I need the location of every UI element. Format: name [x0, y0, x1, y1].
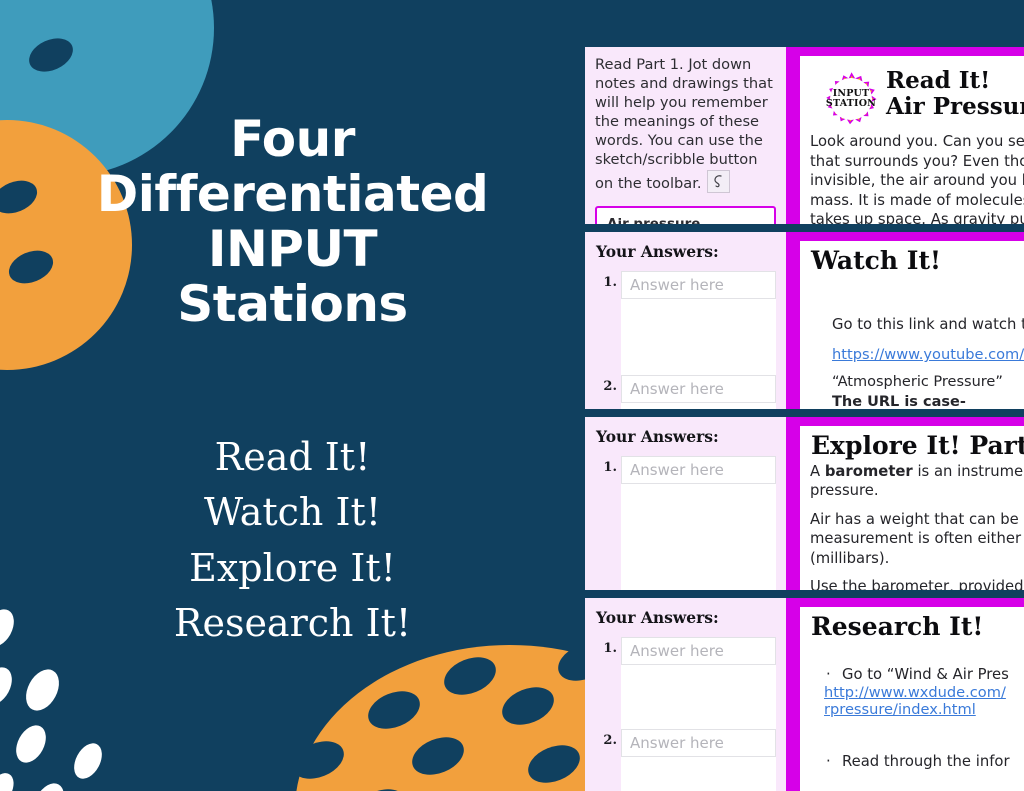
decor-dot [0, 662, 18, 710]
answer-placeholder: Answer here [630, 642, 724, 660]
card-top-bar-magenta [800, 598, 1024, 607]
station-list-item-read: Read It! [0, 430, 585, 485]
wxdude-link-line-1[interactable]: http://www.wxdude.com/ [824, 684, 1024, 701]
card-watch-it[interactable]: Your Answers: 1. Answer here 2. Answer h… [585, 232, 1024, 409]
decor-dot [24, 32, 78, 78]
research-it-bullet-2-text: Read through the infor [842, 752, 1010, 772]
research-it-title: Research It! [811, 613, 1024, 641]
station-list: Read It! Watch It! Explore It! Research … [0, 430, 585, 652]
answer-input-2[interactable]: Answer here [621, 729, 776, 757]
explore-it-para-3: Use the barometer, provided readings. [810, 577, 1024, 590]
input-station-seal-text: INPUT STATION [820, 68, 882, 130]
read-it-instructions-panel: Read Part 1. Jot down notes and drawings… [585, 47, 786, 224]
answer-placeholder: Answer here [630, 276, 724, 294]
explore-it-title: Explore It! Part 1 [811, 432, 1024, 460]
answer-gap [621, 665, 776, 729]
card-read-it[interactable]: Read Part 1. Jot down notes and drawings… [585, 47, 1024, 224]
input-station-seal-icon: INPUT STATION [820, 68, 882, 130]
answer-input-1[interactable]: Answer here [621, 637, 776, 665]
watch-it-link-wrap[interactable]: https://www.youtube.com/wat [832, 346, 1024, 364]
answer-gap [621, 484, 776, 590]
card-explore-it[interactable]: Your Answers: 1. Answer here Explore It!… [585, 417, 1024, 590]
answers-sheet: 1. Answer here 2. Answer here [621, 637, 776, 791]
vocab-word-box[interactable]: Air pressure Type/draw here. [595, 206, 776, 224]
read-it-body-text: Look around you. Can you see th that sur… [810, 132, 1024, 224]
explore-para1-post: is an instrume [913, 463, 1023, 480]
research-it-bullet-1: · Go to “Wind & Air Pres [826, 665, 1024, 685]
headline-line-1: Four [0, 112, 585, 167]
answers-title: Your Answers: [596, 427, 776, 446]
watch-it-title: Watch It! [811, 247, 1024, 275]
explore-it-body: A barometer is an instrume pressure. Air… [810, 462, 1024, 591]
explore-para1-pre: A [810, 463, 825, 480]
decor-dot [287, 734, 350, 786]
decor-dot [523, 738, 586, 790]
answer-number: 1. [597, 460, 617, 475]
card-top-bar-magenta [800, 232, 1024, 241]
answer-input-2[interactable]: Answer here [621, 375, 776, 403]
answer-number: 1. [597, 641, 617, 656]
decor-dot [363, 684, 426, 736]
read-it-content-panel: INPUT STATION Read It! Air Pressure – P … [800, 47, 1024, 224]
read-it-title-line-2: Air Pressure – P [886, 94, 1024, 120]
research-it-bullet-2: · Read through the infor [826, 752, 1024, 772]
station-list-item-research: Research It! [0, 596, 585, 651]
decor-dot [10, 720, 52, 768]
answer-input-1[interactable]: Answer here [621, 456, 776, 484]
explore-para3-line1: Use the barometer, provided [810, 578, 1023, 590]
research-it-bullet-1-wrap: · Go to “Wind & Air Pres http://www.wxdu… [826, 665, 1024, 719]
watch-it-case-note: The URL is case-sensitive. [832, 394, 1024, 409]
decor-dot [469, 786, 532, 791]
card-divider-magenta [786, 47, 800, 224]
answer-row[interactable]: 1. Answer here [621, 456, 776, 484]
answer-number: 2. [597, 733, 617, 748]
read-it-title-line-1: Read It! [886, 68, 1024, 94]
answer-number: 2. [597, 379, 617, 394]
answer-row[interactable]: 1. Answer here [621, 271, 776, 299]
answer-row[interactable]: 1. Answer here [621, 637, 776, 665]
read-it-body-line-3: invisible, the air around you has [810, 171, 1024, 191]
explore-it-answers-panel: Your Answers: 1. Answer here [585, 417, 786, 590]
headline-line-3: INPUT [0, 222, 585, 277]
watch-it-content-panel: Watch It! Go to this link and watch the … [800, 232, 1024, 409]
watch-it-intro: Go to this link and watch the vi [832, 315, 1024, 335]
bullet-icon: · [826, 665, 842, 685]
explore-para2-line3: (millibars). [810, 550, 889, 567]
answer-row[interactable]: 2. Answer here [621, 729, 776, 757]
headline-line-2: Differentiated [0, 167, 585, 222]
answer-input-1[interactable]: Answer here [621, 271, 776, 299]
card-divider-magenta [786, 598, 800, 791]
youtube-link[interactable]: https://www.youtube.com/wat [832, 346, 1024, 363]
answers-title: Your Answers: [596, 242, 776, 261]
read-it-title: Read It! Air Pressure – P [886, 62, 1024, 120]
answer-placeholder: Answer here [630, 734, 724, 752]
station-cards-column: Read Part 1. Jot down notes and drawings… [585, 0, 1024, 791]
station-list-item-watch: Watch It! [0, 485, 585, 540]
scribble-icon[interactable] [707, 170, 730, 193]
read-it-body-line-5: takes up space. As gravity pulls t [810, 210, 1024, 224]
read-it-body-line-2: that surrounds you? Even though [810, 152, 1024, 172]
slide-canvas: Four Differentiated INPUT Stations Read … [0, 0, 1024, 791]
decor-dot [439, 650, 502, 702]
watch-it-video-title: “Atmospheric Pressure” [832, 374, 1024, 390]
decor-dot [68, 739, 107, 784]
read-it-body-line-4: mass. It is made of molecules an [810, 191, 1024, 211]
station-list-item-explore: Explore It! [0, 541, 585, 596]
vocab-word-label: Air pressure [607, 216, 764, 224]
decor-dot [407, 730, 470, 782]
research-it-link-wrap[interactable]: http://www.wxdude.com/ rpressure/index.h… [824, 684, 1024, 718]
explore-it-para-2: Air has a weight that can be measurement… [810, 510, 1024, 569]
card-research-it[interactable]: Your Answers: 1. Answer here 2. Answer h… [585, 598, 1024, 791]
answers-title: Your Answers: [596, 608, 776, 627]
research-it-bullet-1-text: Go to “Wind & Air Pres [842, 665, 1009, 685]
page-title: Four Differentiated INPUT Stations [0, 112, 585, 332]
watch-it-intro-text: Go to this link and watch the vi [832, 315, 1024, 335]
card-divider-magenta [786, 417, 800, 590]
answer-placeholder: Answer here [630, 461, 724, 479]
answer-gap [621, 757, 776, 781]
bullet-icon: · [826, 752, 842, 772]
answers-sheet: 1. Answer here [621, 456, 776, 590]
answer-row[interactable]: 2. Answer here [621, 375, 776, 403]
explore-para1-bold: barometer [825, 463, 913, 480]
watch-it-answers-panel: Your Answers: 1. Answer here 2. Answer h… [585, 232, 786, 409]
decor-dot [0, 769, 19, 791]
explore-para2-line2: measurement is often either [810, 530, 1021, 547]
answer-number: 1. [597, 275, 617, 290]
answer-placeholder: Answer here [630, 380, 724, 398]
seal-line-2: STATION [826, 99, 876, 109]
research-it-content-panel: Research It! · Go to “Wind & Air Pres ht… [800, 598, 1024, 791]
decor-dot [19, 664, 65, 716]
decor-dot [28, 778, 70, 791]
read-it-instructions-text: Read Part 1. Jot down notes and drawings… [595, 56, 776, 194]
answer-gap [621, 299, 776, 375]
explore-it-content-panel: Explore It! Part 1 A barometer is an ins… [800, 417, 1024, 590]
read-it-body-line-1: Look around you. Can you see th [810, 132, 1024, 152]
research-it-answers-panel: Your Answers: 1. Answer here 2. Answer h… [585, 598, 786, 791]
headline-line-4: Stations [0, 277, 585, 332]
card-top-bar-magenta [800, 417, 1024, 426]
decor-dot [349, 782, 412, 791]
decor-dot [497, 680, 560, 732]
answers-sheet: 1. Answer here 2. Answer here [621, 271, 776, 409]
explore-it-para-1: A barometer is an instrume pressure. [810, 462, 1024, 501]
card-top-bar-magenta [800, 47, 1024, 56]
explore-para1-line2: pressure. [810, 482, 879, 499]
wxdude-link-line-2[interactable]: rpressure/index.html [824, 701, 1024, 718]
card-divider-magenta [786, 232, 800, 409]
explore-para2-line1: Air has a weight that can be [810, 511, 1019, 528]
